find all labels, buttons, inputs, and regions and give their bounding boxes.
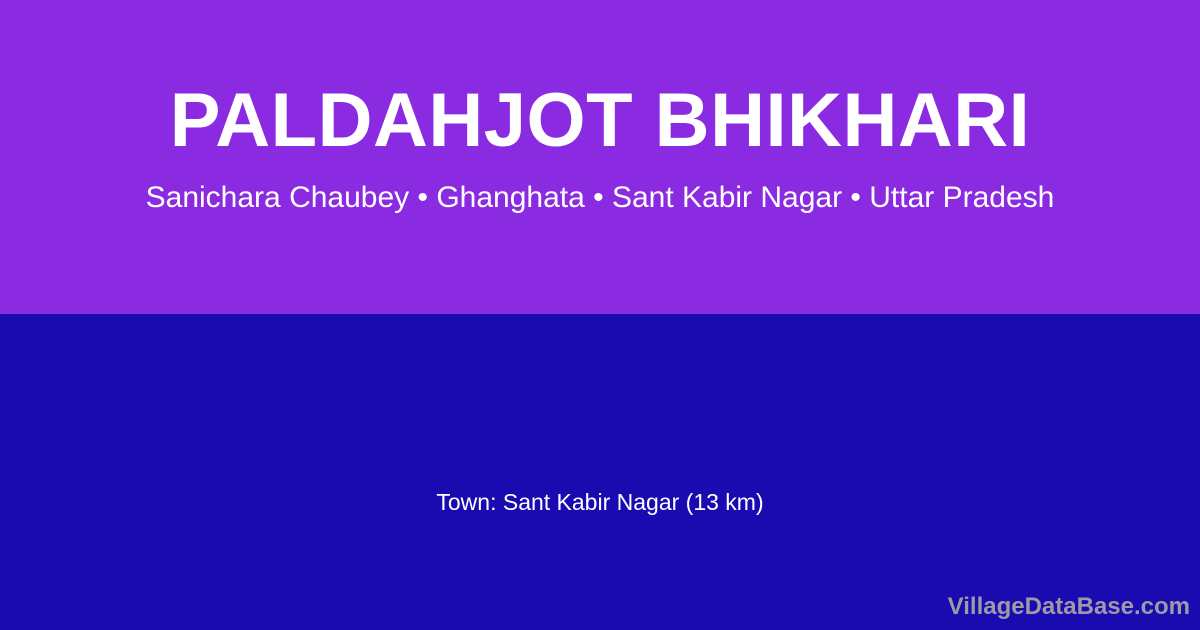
nearest-town-label: Town: Sant Kabir Nagar (13 km) xyxy=(0,486,1200,518)
location-breadcrumb: Sanichara Chaubey • Ghanghata • Sant Kab… xyxy=(0,178,1200,218)
site-watermark: VillageDataBase.com xyxy=(948,592,1190,622)
body-band: Town: Sant Kabir Nagar (13 km) VillageDa… xyxy=(0,314,1200,630)
page-title: PALDAHJOT BHIKHARI xyxy=(0,78,1200,164)
village-info-card: PALDAHJOT BHIKHARI Sanichara Chaubey • G… xyxy=(0,0,1200,630)
header-band: PALDAHJOT BHIKHARI Sanichara Chaubey • G… xyxy=(0,0,1200,314)
